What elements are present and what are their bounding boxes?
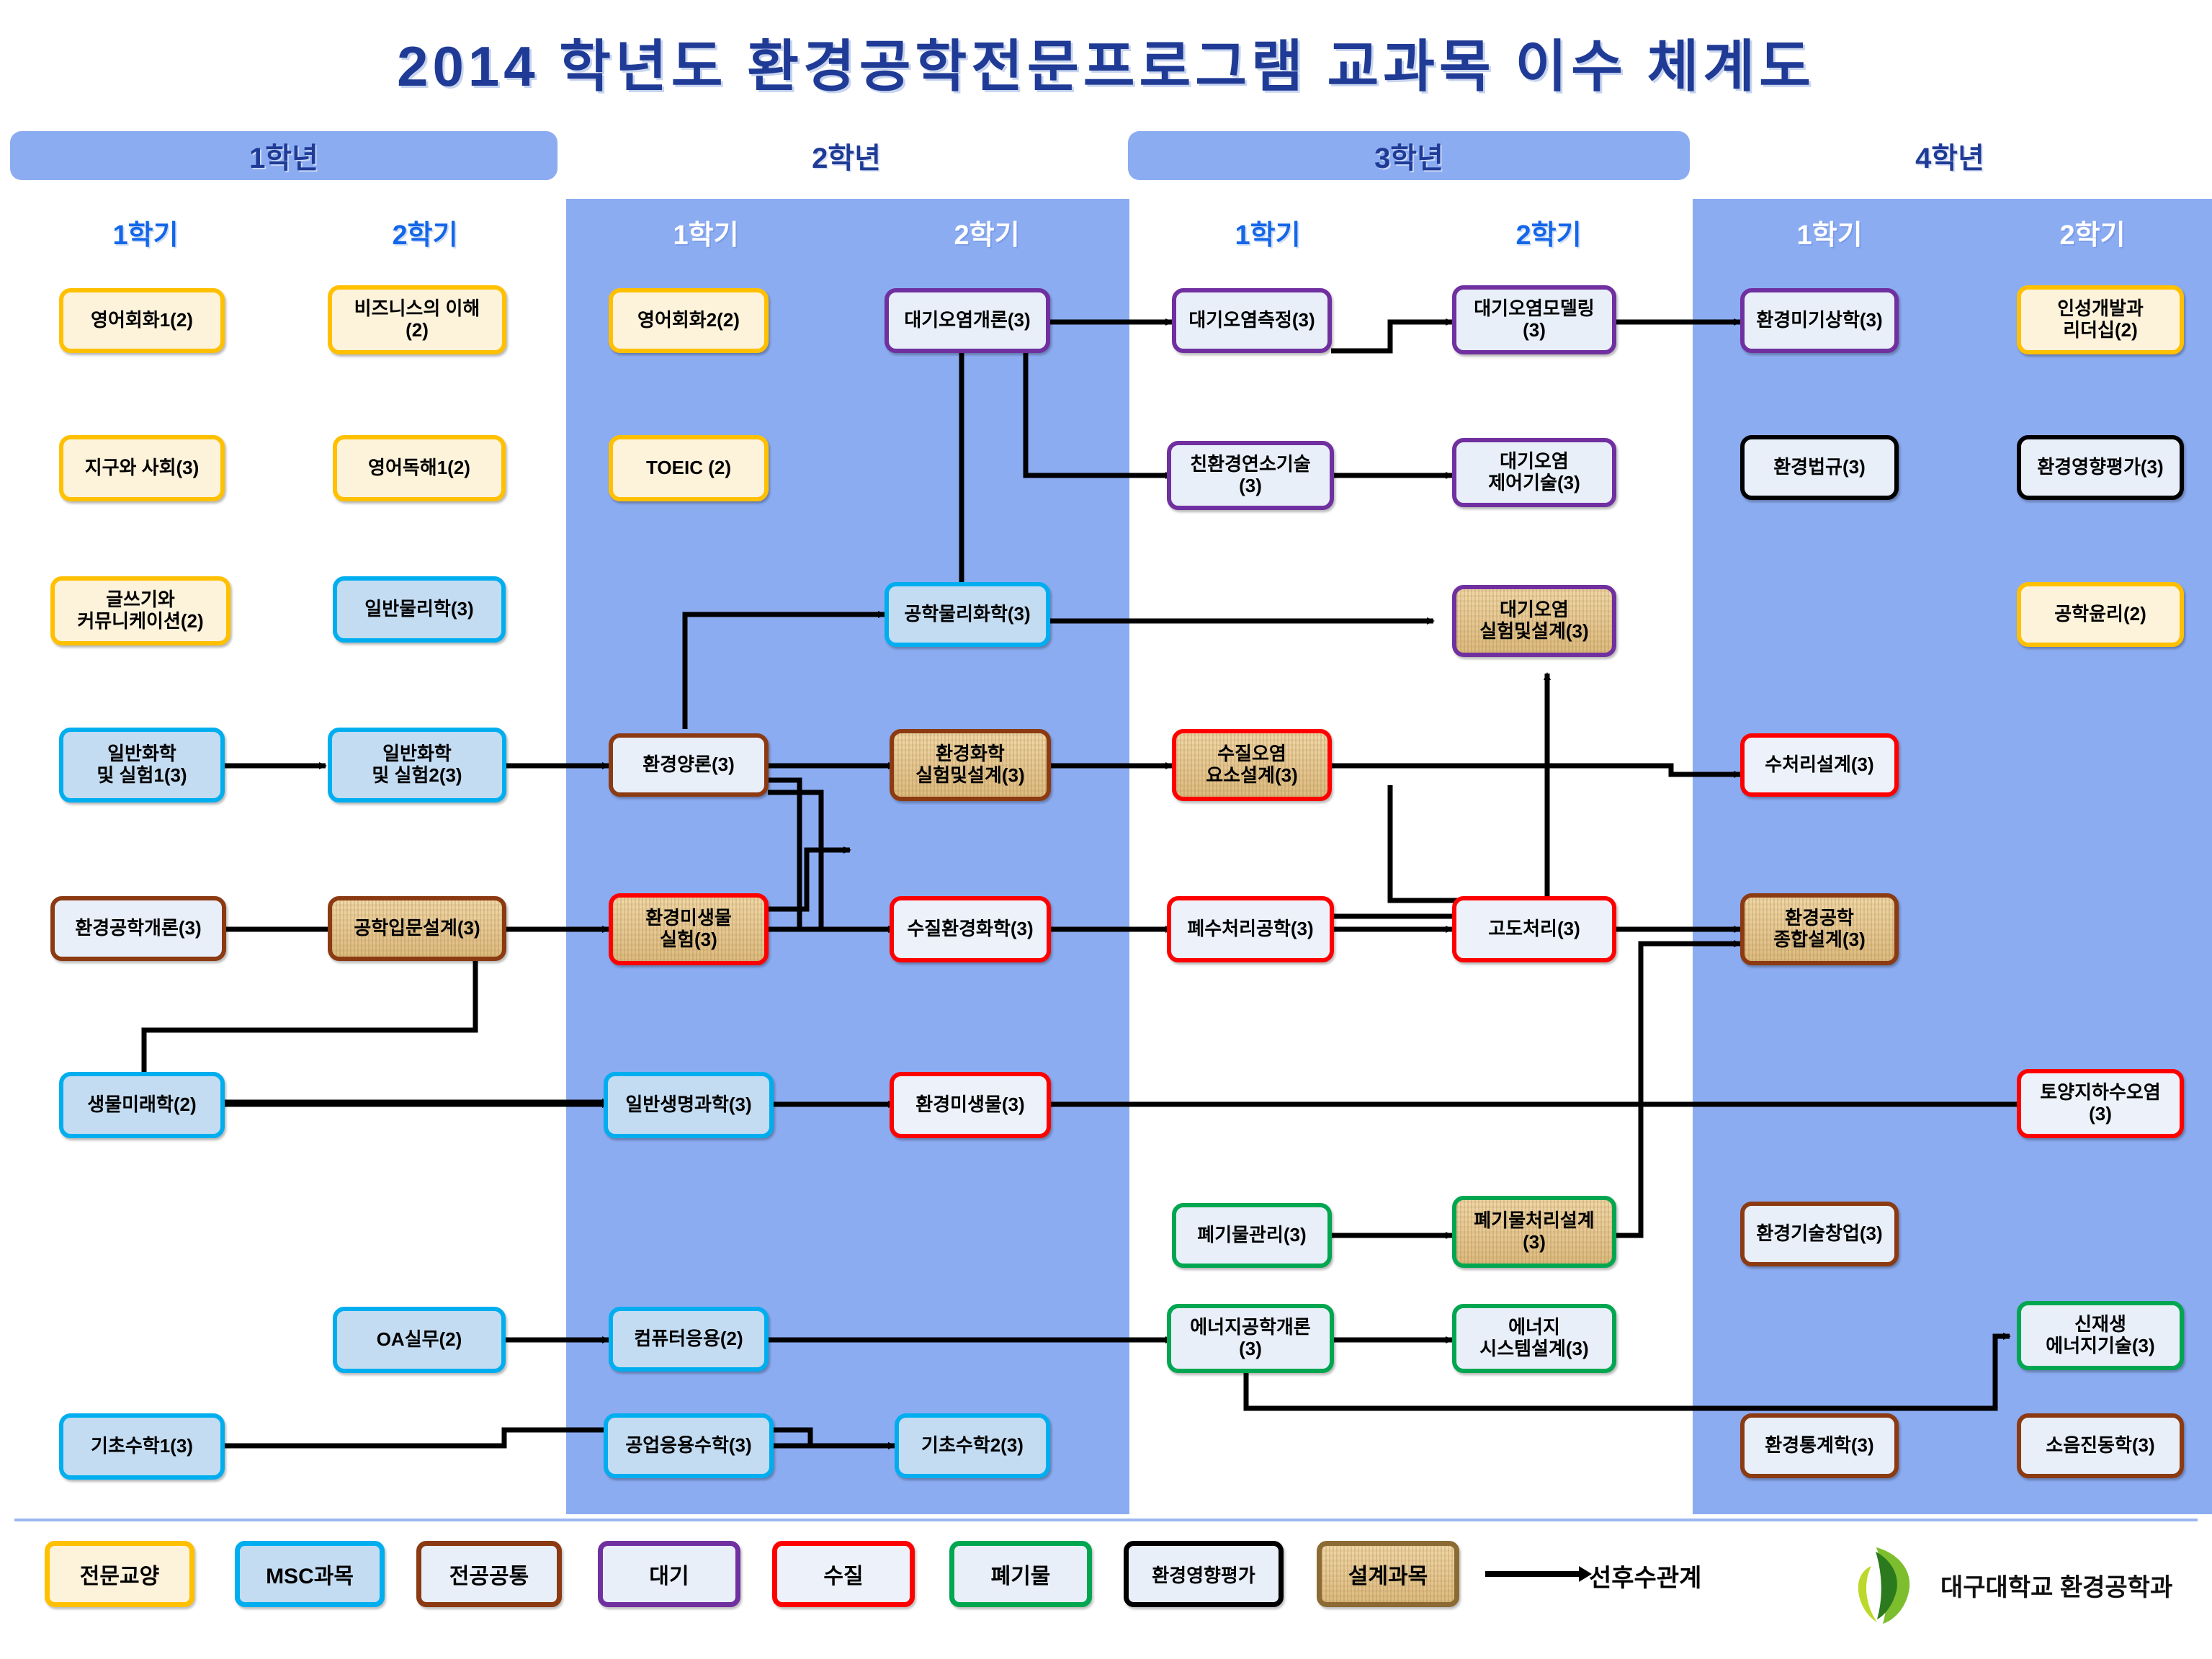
course-box[interactable]: 일반물리학(3) bbox=[333, 576, 506, 643]
semester-label-4: 2학기 bbox=[857, 216, 1116, 248]
course-box[interactable]: 환경공학종합설계(3) bbox=[1740, 893, 1899, 965]
course-box[interactable]: 폐수처리공학(3) bbox=[1167, 896, 1334, 962]
course-box[interactable]: 환경통계학(3) bbox=[1740, 1413, 1899, 1478]
legend-item-waste-label: 폐기물 bbox=[991, 1558, 1051, 1590]
course-box[interactable]: 인성개발과리더십(2) bbox=[2017, 285, 2184, 354]
course-box[interactable]: 수질환경화학(3) bbox=[890, 896, 1051, 962]
semester-label-4-text: 2학기 bbox=[954, 213, 1019, 252]
semester-label-5: 1학기 bbox=[1138, 216, 1397, 248]
legend-arrow-icon bbox=[1484, 1560, 1592, 1588]
course-box[interactable]: 기초수학2(3) bbox=[895, 1413, 1050, 1478]
year-header-3: 3학년 bbox=[1128, 131, 1690, 180]
course-box[interactable]: 비즈니스의 이해(2) bbox=[328, 285, 506, 354]
course-box[interactable]: 생물미래학(2) bbox=[59, 1072, 225, 1138]
legend-item-air[interactable]: 대기 bbox=[598, 1541, 740, 1607]
semester-label-2: 2학기 bbox=[295, 216, 555, 248]
legend-divider bbox=[14, 1519, 2198, 1521]
course-box[interactable]: 환경공학개론(3) bbox=[50, 896, 226, 961]
course-box[interactable]: 영어회화2(2) bbox=[609, 288, 769, 353]
legend-item-air-label: 대기 bbox=[649, 1558, 689, 1590]
semester-label-3-text: 1학기 bbox=[673, 213, 738, 252]
course-box[interactable]: 영어독해1(2) bbox=[333, 435, 506, 501]
legend-arrow-label-text: 선후수관계 bbox=[1589, 1558, 1701, 1593]
course-box[interactable]: 신재생에너지기술(3) bbox=[2017, 1301, 2184, 1370]
legend-item-msc[interactable]: MSC과목 bbox=[235, 1541, 385, 1607]
legend-item-common[interactable]: 전공공통 bbox=[416, 1541, 562, 1607]
course-box[interactable]: 수질오염요소설계(3) bbox=[1172, 729, 1332, 801]
course-box[interactable]: 수처리설계(3) bbox=[1740, 733, 1899, 797]
year-header-1: 1학년 bbox=[10, 131, 558, 180]
course-box[interactable]: 영어회화1(2) bbox=[59, 288, 225, 353]
course-box[interactable]: OA실무(2) bbox=[333, 1307, 506, 1373]
university-mark: 대구대학교 환경공학과 bbox=[1851, 1545, 2172, 1624]
course-box[interactable]: 대기오염실험및설계(3) bbox=[1452, 585, 1616, 657]
semester-label-3: 1학기 bbox=[576, 216, 836, 248]
semester-label-5-text: 1학기 bbox=[1235, 213, 1300, 252]
course-box[interactable]: 일반화학및 실험2(3) bbox=[328, 728, 506, 802]
course-box[interactable]: 대기오염측정(3) bbox=[1172, 288, 1332, 353]
course-box[interactable]: 공학윤리(2) bbox=[2017, 582, 2184, 647]
course-box[interactable]: 폐기물처리설계(3) bbox=[1452, 1196, 1616, 1268]
course-box[interactable]: 환경미생물(3) bbox=[890, 1072, 1051, 1138]
course-box[interactable]: 공학물리화학(3) bbox=[885, 582, 1050, 647]
semester-label-2-text: 2학기 bbox=[392, 213, 457, 252]
course-box[interactable]: 친환경연소기술(3) bbox=[1167, 441, 1334, 510]
legend-item-msc-label: MSC과목 bbox=[266, 1558, 354, 1590]
course-box[interactable]: 에너지공학개론(3) bbox=[1167, 1304, 1334, 1373]
year-header-4: 4학년 bbox=[1694, 131, 2206, 180]
legend-item-eia[interactable]: 환경영향평가 bbox=[1124, 1541, 1284, 1607]
semester-label-1: 1학기 bbox=[16, 216, 275, 248]
semester-label-8-text: 2학기 bbox=[2059, 213, 2125, 252]
semester-label-6-text: 2학기 bbox=[1515, 213, 1581, 252]
legend-arrow-label: 선후수관계 bbox=[1589, 1560, 1701, 1591]
year-header-2: 2학년 bbox=[569, 131, 1124, 180]
semester-label-6: 2학기 bbox=[1419, 216, 1678, 248]
legend-item-eia-label: 환경영향평가 bbox=[1152, 1561, 1255, 1588]
course-box[interactable]: 소음진동학(3) bbox=[2017, 1413, 2184, 1478]
course-box[interactable]: 에너지시스템설계(3) bbox=[1452, 1304, 1616, 1373]
course-box[interactable]: 대기오염개론(3) bbox=[885, 288, 1050, 353]
semester-label-8: 2학기 bbox=[1974, 216, 2211, 248]
course-box[interactable]: 환경법규(3) bbox=[1740, 435, 1899, 500]
legend-item-water-label: 수질 bbox=[823, 1558, 863, 1590]
legend-item-design-label: 설계과목 bbox=[1348, 1558, 1428, 1590]
legend-item-gyoyang[interactable]: 전문교양 bbox=[45, 1541, 194, 1607]
course-box[interactable]: 대기오염모델링(3) bbox=[1452, 285, 1616, 354]
course-box[interactable]: 기초수학1(3) bbox=[59, 1413, 225, 1480]
course-box[interactable]: 컴퓨터응용(2) bbox=[609, 1307, 769, 1372]
course-box[interactable]: 공학입문설계(3) bbox=[328, 896, 506, 961]
semester-label-7: 1학기 bbox=[1700, 216, 1959, 248]
legend-item-common-label: 전공공통 bbox=[449, 1558, 529, 1590]
course-box[interactable]: 일반화학및 실험1(3) bbox=[59, 728, 225, 802]
legend-item-gyoyang-label: 전문교양 bbox=[80, 1558, 159, 1590]
legend-item-water[interactable]: 수질 bbox=[772, 1541, 915, 1607]
year-header-4-label: 4학년 bbox=[1915, 135, 1984, 176]
course-box[interactable]: 일반생명과학(3) bbox=[604, 1072, 774, 1138]
course-box[interactable]: 환경기술창업(3) bbox=[1740, 1202, 1899, 1266]
semester-label-1-text: 1학기 bbox=[112, 213, 178, 252]
year-header-2-label: 2학년 bbox=[812, 135, 881, 176]
course-box[interactable]: 대기오염제어기술(3) bbox=[1452, 438, 1616, 507]
legend-item-waste[interactable]: 폐기물 bbox=[949, 1541, 1092, 1607]
course-box[interactable]: 토양지하수오염(3) bbox=[2017, 1069, 2184, 1138]
course-box[interactable]: 환경미기상학(3) bbox=[1740, 288, 1899, 353]
legend-bar: 전문교양 MSC과목 전공공통 대기 수질 폐기물 환경영향평가 설계과목 선후 bbox=[0, 1531, 2212, 1632]
course-box[interactable]: 폐기물관리(3) bbox=[1172, 1203, 1332, 1268]
university-name: 대구대학교 환경공학과 bbox=[1940, 1568, 2172, 1603]
university-logo-icon bbox=[1851, 1544, 1930, 1625]
semester-label-7-text: 1학기 bbox=[1796, 213, 1862, 252]
course-box[interactable]: 고도처리(3) bbox=[1452, 896, 1616, 962]
course-box[interactable]: 환경화학실험및설계(3) bbox=[890, 729, 1051, 801]
page-title: 2014 학년도 환경공학전문프로그램 교과목 이수 체계도 bbox=[0, 22, 2212, 102]
course-box[interactable]: 지구와 사회(3) bbox=[59, 435, 225, 501]
year-header-3-label: 3학년 bbox=[1374, 135, 1443, 176]
course-box[interactable]: TOEIC (2) bbox=[609, 435, 769, 501]
legend-item-design[interactable]: 설계과목 bbox=[1317, 1541, 1459, 1607]
course-box[interactable]: 공업응용수학(3) bbox=[604, 1413, 774, 1478]
course-box[interactable]: 환경양론(3) bbox=[609, 733, 769, 797]
course-box[interactable]: 글쓰기와커뮤니케이션(2) bbox=[50, 576, 230, 645]
course-box[interactable]: 환경영향평가(3) bbox=[2017, 435, 2184, 500]
course-box[interactable]: 환경미생물실험(3) bbox=[609, 893, 769, 965]
year-header-1-label: 1학년 bbox=[249, 135, 318, 176]
